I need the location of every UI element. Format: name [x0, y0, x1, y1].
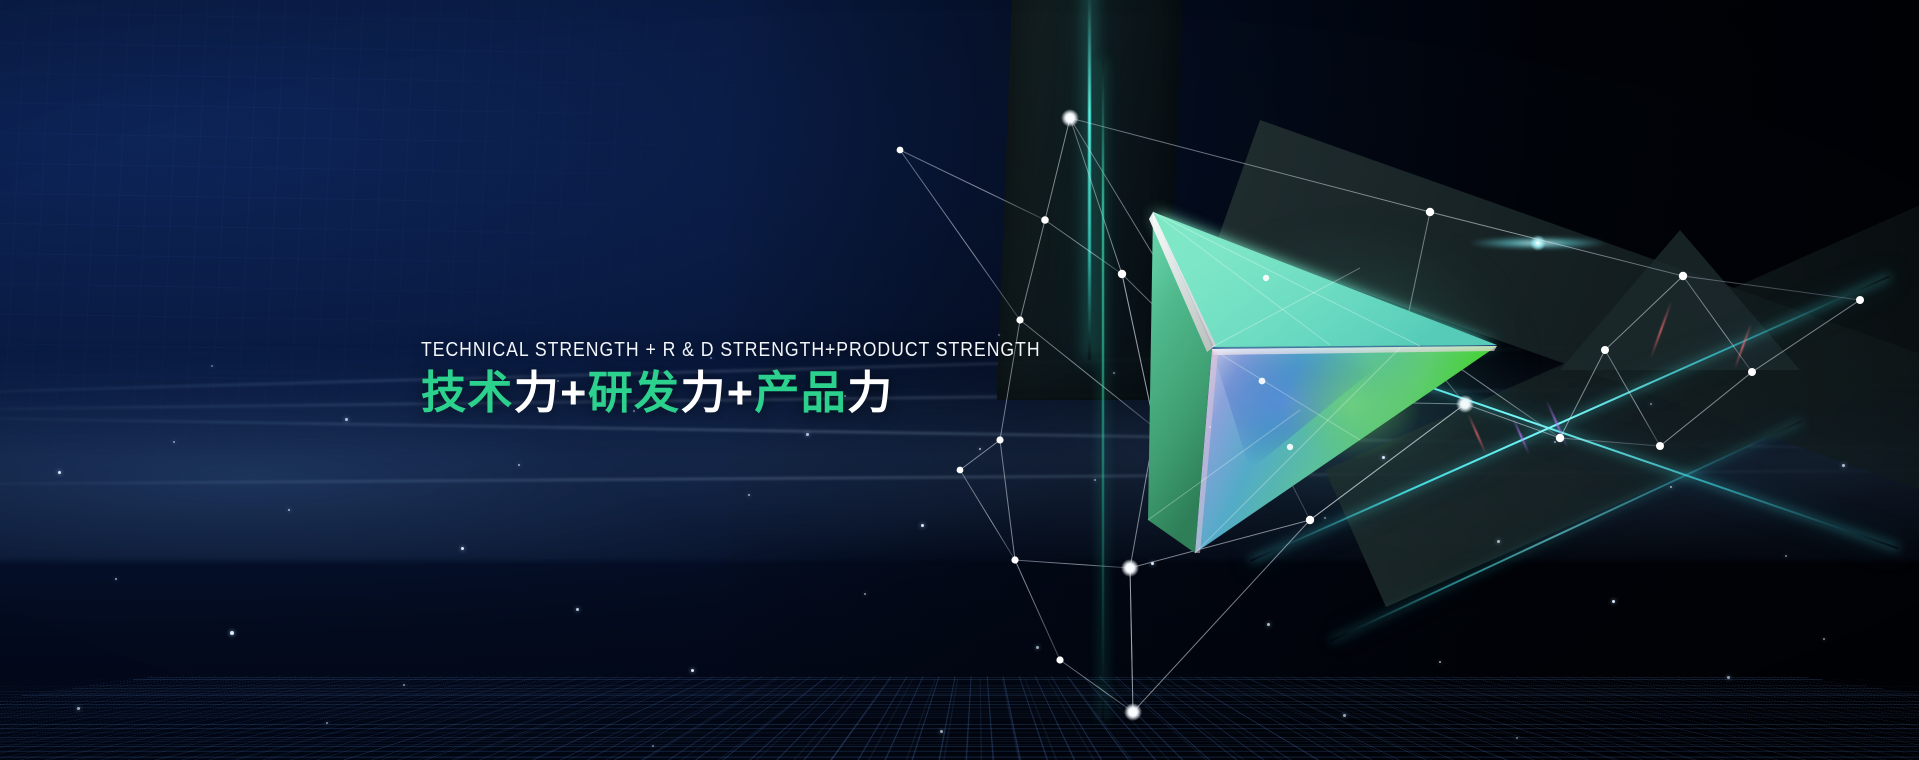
mesh-grid-secondary — [0, 680, 1919, 760]
hero-banner: TECHNICAL STRENGTH + R & D STRENGTH+PROD… — [0, 0, 1919, 760]
page-title: 技术力+研发力+产品力 — [421, 368, 1141, 418]
headline-block: TECHNICAL STRENGTH + R & D STRENGTH+PROD… — [421, 338, 1141, 418]
headline-segment-1: 技术 — [421, 367, 514, 418]
headline-segment-2: 力 — [514, 367, 560, 418]
headline-segment-3: + — [560, 367, 588, 418]
headline-segment-5: 力 — [680, 367, 726, 418]
headline-segment-7: 产品 — [754, 367, 847, 418]
subtitle-english: TECHNICAL STRENGTH + R & D STRENGTH+PROD… — [421, 338, 1041, 362]
arrow-glow — [1140, 200, 1560, 530]
headline-segment-6: + — [727, 367, 755, 418]
headline-segment-8: 力 — [847, 367, 893, 418]
dark-triangle-shape — [1560, 230, 1800, 370]
cyan-vertical-light-streak — [1088, 0, 1091, 360]
headline-segment-4: 研发 — [588, 367, 681, 418]
